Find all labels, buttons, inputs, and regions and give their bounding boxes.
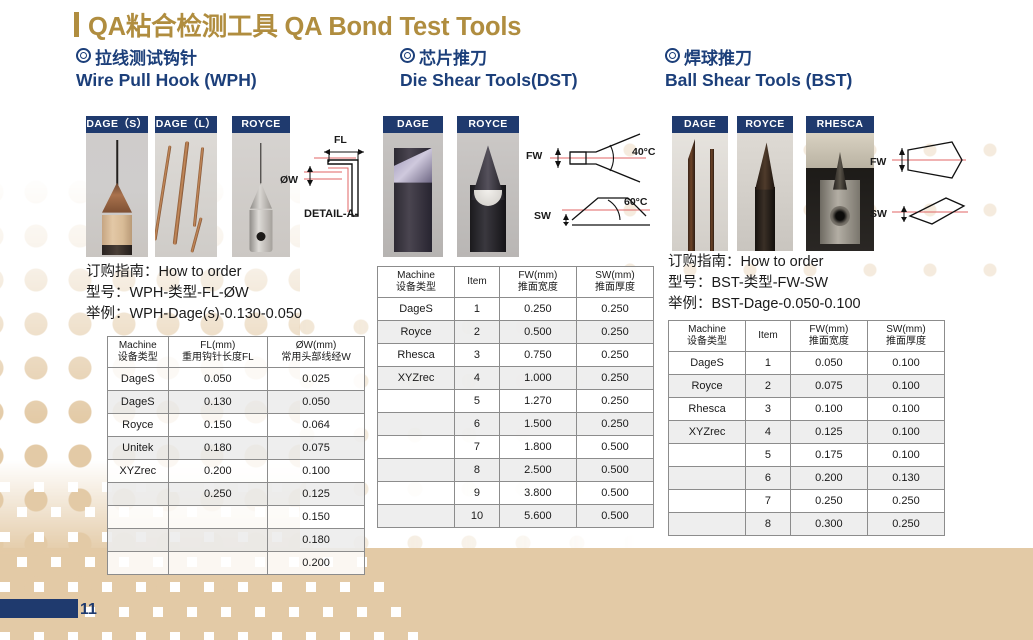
- table-cell: [168, 552, 268, 575]
- table-row: Rhesca30.7500.250: [378, 344, 654, 367]
- section-heading-bst-en: Ball Shear Tools (BST): [665, 69, 852, 92]
- table-cell: XYZrec: [378, 367, 455, 390]
- table-header-cell: Item: [455, 267, 500, 298]
- table-header-cn: 推面宽度: [504, 282, 572, 294]
- table-cell: 0.100: [867, 352, 944, 375]
- table-cell: [378, 436, 455, 459]
- table-row: 50.1750.100: [669, 444, 945, 467]
- table-cell: 0.100: [867, 444, 944, 467]
- table-cell: 0.500: [576, 482, 653, 505]
- table-cell: XYZrec: [669, 421, 746, 444]
- table-row: 60.2000.130: [669, 467, 945, 490]
- table-cell: 0.100: [867, 421, 944, 444]
- background-square: [102, 632, 112, 640]
- table-row: 0.200: [108, 552, 365, 575]
- table-header-cell: Item: [746, 321, 791, 352]
- diagram-label-60deg: 60°C: [624, 196, 647, 208]
- background-square: [51, 507, 61, 517]
- background-square: [0, 482, 10, 492]
- table-header-cell: SW(mm)推面厚度: [867, 321, 944, 352]
- table-row: DageS0.1300.050: [108, 391, 365, 414]
- title-accent-bar: [74, 12, 79, 37]
- table-header-row: Machine设备类型ItemFW(mm)推面宽度SW(mm)推面厚度: [378, 267, 654, 298]
- section-heading-dst: 芯片推刀 Die Shear Tools(DST): [400, 48, 578, 92]
- photo-image: [457, 133, 519, 257]
- table-header-cn: 推面厚度: [581, 282, 649, 294]
- diagram-label-ow: ØW: [280, 174, 298, 186]
- table-cell: 0.175: [790, 444, 867, 467]
- table-header-cell: FW(mm)推面宽度: [499, 267, 576, 298]
- table-header-cn: 设备类型: [112, 352, 164, 364]
- table-cell: 0.250: [867, 513, 944, 536]
- background-square: [255, 607, 265, 617]
- page-number-bar: [0, 599, 78, 618]
- table-cell: 0.025: [268, 368, 365, 391]
- table-row: XYZrec0.2000.100: [108, 460, 365, 483]
- bullet-ring-icon: [76, 48, 91, 63]
- background-square: [85, 557, 95, 567]
- table-cell: 0.180: [268, 529, 365, 552]
- table-header-row: Machine设备类型ItemFW(mm)推面宽度SW(mm)推面厚度: [669, 321, 945, 352]
- table-header-cell: Machine设备类型: [378, 267, 455, 298]
- spec-table-bst: Machine设备类型ItemFW(mm)推面宽度SW(mm)推面厚度DageS…: [668, 320, 945, 536]
- table-cell: 0.050: [168, 368, 268, 391]
- table-cell: [108, 529, 169, 552]
- table-cell: [378, 459, 455, 482]
- catalog-page: QA粘合检测工具 QA Bond Test Tools 拉线测试钩针 Wire …: [0, 0, 1033, 640]
- background-square: [136, 632, 146, 640]
- table-cell: 0.250: [576, 390, 653, 413]
- table-header-row: Machine设备类型FL(mm)重用钩针长度FLØW(mm)常用头部线经W: [108, 337, 365, 368]
- table-cell: 0.500: [576, 436, 653, 459]
- table-cell: 2: [746, 375, 791, 398]
- diagram-label-sw: SW: [870, 208, 887, 220]
- section-heading-dst-cn: 芯片推刀: [400, 48, 578, 69]
- background-square: [68, 482, 78, 492]
- table-row: 70.2500.250: [669, 490, 945, 513]
- table-row: Royce20.5000.250: [378, 321, 654, 344]
- table-header-cell: FW(mm)推面宽度: [790, 321, 867, 352]
- background-square: [34, 632, 44, 640]
- table-cell: 3: [455, 344, 500, 367]
- background-square: [68, 632, 78, 640]
- page-title: QA粘合检测工具 QA Bond Test Tools: [74, 6, 521, 43]
- table-header-cn: 重用钩针长度FL: [173, 352, 264, 364]
- section-heading-bst: 焊球推刀 Ball Shear Tools (BST): [665, 48, 852, 92]
- table-cell: 0.125: [790, 421, 867, 444]
- table-cell: 0.180: [168, 437, 268, 460]
- table-cell: 1.500: [499, 413, 576, 436]
- page-number: 11: [80, 601, 97, 619]
- product-photo-wph-dage-s: DAGE（S）: [86, 116, 148, 257]
- table-cell: 6: [455, 413, 500, 436]
- photo-image: [155, 133, 217, 257]
- section-heading-dst-en: Die Shear Tools(DST): [400, 69, 578, 92]
- table-cell: 0.125: [268, 483, 365, 506]
- howto-line-1: 订购指南：How to order: [86, 262, 302, 283]
- table-cell: 8: [746, 513, 791, 536]
- diagram-label-sw: SW: [534, 210, 551, 222]
- table-cell: 0.050: [268, 391, 365, 414]
- background-square: [136, 582, 146, 592]
- table-cell: 0.500: [576, 505, 653, 528]
- table-cell: Royce: [669, 375, 746, 398]
- diagram-bst: FW SW: [882, 136, 972, 236]
- product-photo-bst-rhesca: RHESCA: [806, 116, 874, 251]
- product-photo-bst-dage: DAGE: [672, 116, 728, 251]
- table-cell: 0.075: [790, 375, 867, 398]
- diagram-bst-svg: [882, 136, 972, 236]
- table-cell: 0.150: [168, 414, 268, 437]
- table-header-cn: 推面厚度: [872, 336, 940, 348]
- table-cell: 0.200: [268, 552, 365, 575]
- table-cell: 0.250: [867, 490, 944, 513]
- background-square: [17, 507, 27, 517]
- photo-image: [737, 133, 793, 251]
- table-cell: 0.100: [790, 398, 867, 421]
- table-header-cell: ØW(mm)常用头部线经W: [268, 337, 365, 368]
- photo-label: ROYCE: [737, 116, 793, 133]
- photo-image: [232, 133, 290, 257]
- table-header-cell: FL(mm)重用钩针长度FL: [168, 337, 268, 368]
- table-row: 93.8000.500: [378, 482, 654, 505]
- table-header-en: FL(mm): [173, 340, 264, 352]
- table-row: DageS10.2500.250: [378, 298, 654, 321]
- product-photo-dst-royce: ROYCE: [457, 116, 519, 257]
- photo-image: [806, 133, 874, 251]
- table-row: 51.2700.250: [378, 390, 654, 413]
- background-square: [306, 582, 316, 592]
- background-square: [0, 582, 10, 592]
- background-square: [357, 607, 367, 617]
- background-square: [68, 532, 78, 542]
- table-header-en: FW(mm): [504, 270, 572, 282]
- background-square: [323, 607, 333, 617]
- table-header-cn: 设备类型: [673, 336, 741, 348]
- table-header-cell: Machine设备类型: [669, 321, 746, 352]
- table-cell: 1.800: [499, 436, 576, 459]
- background-square: [119, 607, 129, 617]
- table-row: DageS10.0500.100: [669, 352, 945, 375]
- table-cell: 1.000: [499, 367, 576, 390]
- diagram-label-fl: FL: [334, 134, 347, 146]
- table-cell: 4: [746, 421, 791, 444]
- table-cell: 0.064: [268, 414, 365, 437]
- product-photo-wph-dage-l: DAGE（L）: [155, 116, 217, 257]
- bullet-ring-icon: [665, 48, 680, 63]
- table-header-en: Item: [750, 330, 786, 342]
- howto-line-3: 举例：WPH-Dage(s)-0.130-0.050: [86, 304, 302, 325]
- table-header-en: Machine: [673, 324, 741, 336]
- background-square: [170, 632, 180, 640]
- table-row: Rhesca30.1000.100: [669, 398, 945, 421]
- table-header-cn: 常用头部线经W: [272, 352, 360, 364]
- table-cell: [669, 467, 746, 490]
- table-row: 61.5000.250: [378, 413, 654, 436]
- diagram-label-fw: FW: [526, 150, 542, 162]
- table-cell: 0.250: [576, 344, 653, 367]
- background-square: [306, 632, 316, 640]
- howto-line-1: 订购指南：How to order: [668, 252, 861, 273]
- table-cell: DageS: [108, 391, 169, 414]
- table-header-en: FW(mm): [795, 324, 863, 336]
- photo-label: DAGE: [672, 116, 728, 133]
- table-cell: [168, 529, 268, 552]
- table-header-en: Machine: [382, 270, 450, 282]
- table-cell: DageS: [108, 368, 169, 391]
- diagram-label-detail-a: DETAIL-A-: [304, 208, 358, 220]
- table-row: XYZrec40.1250.100: [669, 421, 945, 444]
- background-square: [0, 532, 10, 542]
- table-cell: 0.250: [168, 483, 268, 506]
- table-cell: 0.250: [576, 321, 653, 344]
- title-text: QA粘合检测工具 QA Bond Test Tools: [88, 6, 521, 43]
- table-cell: 7: [746, 490, 791, 513]
- table-cell: 0.500: [576, 459, 653, 482]
- table-row: Royce0.1500.064: [108, 414, 365, 437]
- table-row: 105.6000.500: [378, 505, 654, 528]
- table-cell: Royce: [378, 321, 455, 344]
- background-square: [34, 532, 44, 542]
- howto-line-2: 型号：BST-类型-FW-SW: [668, 273, 861, 294]
- table-cell: 8: [455, 459, 500, 482]
- section-heading-bst-cn: 焊球推刀: [665, 48, 852, 69]
- table-cell: 3.800: [499, 482, 576, 505]
- table-header-cell: SW(mm)推面厚度: [576, 267, 653, 298]
- table-cell: 0.250: [576, 413, 653, 436]
- table-cell: 5: [455, 390, 500, 413]
- table-cell: 0.200: [790, 467, 867, 490]
- background-square: [17, 557, 27, 567]
- background-square: [272, 632, 282, 640]
- photo-label: DAGE: [383, 116, 443, 133]
- table-cell: [378, 505, 455, 528]
- table-cell: 0.150: [268, 506, 365, 529]
- background-square: [34, 482, 44, 492]
- table-row: 82.5000.500: [378, 459, 654, 482]
- table-header-en: Item: [459, 276, 495, 288]
- table-cell: 0.500: [499, 321, 576, 344]
- background-square: [51, 557, 61, 567]
- background-square: [170, 582, 180, 592]
- table-cell: [108, 552, 169, 575]
- table-cell: 0.250: [576, 367, 653, 390]
- table-row: 0.2500.125: [108, 483, 365, 506]
- table-row: Unitek0.1800.075: [108, 437, 365, 460]
- background-square: [340, 582, 350, 592]
- background-square: [102, 582, 112, 592]
- table-row: 80.3000.250: [669, 513, 945, 536]
- table-cell: Royce: [108, 414, 169, 437]
- table-cell: 1: [746, 352, 791, 375]
- diagram-wph-detail: FL ØW DETAIL-A-: [296, 130, 376, 230]
- table-cell: 1: [455, 298, 500, 321]
- diagram-dst: FW 40°C SW 60°C: [528, 128, 660, 238]
- table-header-cell: Machine设备类型: [108, 337, 169, 368]
- table-cell: Rhesca: [378, 344, 455, 367]
- table-header-en: Machine: [112, 340, 164, 352]
- background-square: [0, 632, 10, 640]
- table-cell: [168, 506, 268, 529]
- table-cell: [378, 413, 455, 436]
- table-cell: 6: [746, 467, 791, 490]
- table-cell: [669, 444, 746, 467]
- background-square: [238, 582, 248, 592]
- background-square: [238, 632, 248, 640]
- photo-label: RHESCA: [806, 116, 874, 133]
- table-cell: 5.600: [499, 505, 576, 528]
- background-square: [68, 582, 78, 592]
- background-square: [153, 607, 163, 617]
- section-heading-wph: 拉线测试钩针 Wire Pull Hook (WPH): [76, 48, 257, 92]
- table-cell: Rhesca: [669, 398, 746, 421]
- background-square: [204, 632, 214, 640]
- background-square: [34, 582, 44, 592]
- background-square: [272, 582, 282, 592]
- table-cell: [108, 483, 169, 506]
- howto-line-2: 型号：WPH-类型-FL-ØW: [86, 283, 302, 304]
- background-square: [187, 607, 197, 617]
- table-row: DageS0.0500.025: [108, 368, 365, 391]
- background-square: [85, 507, 95, 517]
- table-cell: 0.300: [790, 513, 867, 536]
- table-cell: 7: [455, 436, 500, 459]
- table-cell: 0.250: [576, 298, 653, 321]
- spec-table-dst: Machine设备类型ItemFW(mm)推面宽度SW(mm)推面厚度DageS…: [377, 266, 654, 528]
- bullet-ring-icon: [400, 48, 415, 63]
- table-cell: [669, 490, 746, 513]
- background-square: [408, 632, 418, 640]
- table-cell: 2: [455, 321, 500, 344]
- table-row: XYZrec41.0000.250: [378, 367, 654, 390]
- table-header-cn: 设备类型: [382, 282, 450, 294]
- table-cell: [108, 506, 169, 529]
- table-cell: 9: [455, 482, 500, 505]
- diagram-label-40deg: 40°C: [632, 146, 655, 158]
- table-cell: 0.200: [168, 460, 268, 483]
- background-square: [204, 582, 214, 592]
- table-cell: 4: [455, 367, 500, 390]
- photo-label: ROYCE: [232, 116, 290, 133]
- table-cell: 0.050: [790, 352, 867, 375]
- product-photo-bst-royce: ROYCE: [737, 116, 793, 251]
- table-cell: 0.250: [790, 490, 867, 513]
- table-cell: [378, 390, 455, 413]
- table-cell: 0.750: [499, 344, 576, 367]
- background-square: [374, 582, 384, 592]
- table-cell: 0.100: [268, 460, 365, 483]
- table-cell: 5: [746, 444, 791, 467]
- section-heading-wph-en: Wire Pull Hook (WPH): [76, 69, 257, 92]
- table-header-en: SW(mm): [581, 270, 649, 282]
- photo-image: [672, 133, 728, 251]
- table-cell: XYZrec: [108, 460, 169, 483]
- table-cell: Unitek: [108, 437, 169, 460]
- background-square: [374, 632, 384, 640]
- table-cell: 2.500: [499, 459, 576, 482]
- background-square: [289, 607, 299, 617]
- product-photo-wph-royce: ROYCE: [232, 116, 290, 257]
- table-row: 71.8000.500: [378, 436, 654, 459]
- table-cell: 0.075: [268, 437, 365, 460]
- table-cell: [669, 513, 746, 536]
- product-photo-dst-dage: DAGE: [383, 116, 443, 257]
- table-cell: 0.130: [867, 467, 944, 490]
- photo-label: DAGE（L）: [155, 116, 217, 133]
- background-square: [221, 607, 231, 617]
- spec-table-wph: Machine设备类型FL(mm)重用钩针长度FLØW(mm)常用头部线经WDa…: [107, 336, 365, 575]
- table-header-en: SW(mm): [872, 324, 940, 336]
- section-heading-wph-cn: 拉线测试钩针: [76, 48, 257, 69]
- table-cell: DageS: [669, 352, 746, 375]
- table-row: 0.180: [108, 529, 365, 552]
- table-cell: [378, 482, 455, 505]
- table-cell: DageS: [378, 298, 455, 321]
- background-square: [391, 607, 401, 617]
- table-header-cn: 推面宽度: [795, 336, 863, 348]
- table-cell: 1.270: [499, 390, 576, 413]
- table-row: Royce20.0750.100: [669, 375, 945, 398]
- background-square: [340, 632, 350, 640]
- table-cell: 3: [746, 398, 791, 421]
- table-row: 0.150: [108, 506, 365, 529]
- photo-label: DAGE（S）: [86, 116, 148, 133]
- howto-order-wph: 订购指南：How to order 型号：WPH-类型-FL-ØW 举例：WPH…: [86, 262, 302, 325]
- howto-order-bst: 订购指南：How to order 型号：BST-类型-FW-SW 举例：BST…: [668, 252, 861, 315]
- table-cell: 10: [455, 505, 500, 528]
- photo-image: [86, 133, 148, 257]
- diagram-label-fw: FW: [870, 156, 886, 168]
- table-cell: 0.100: [867, 375, 944, 398]
- photo-image: [383, 133, 443, 257]
- table-cell: 0.130: [168, 391, 268, 414]
- table-cell: 0.250: [499, 298, 576, 321]
- photo-label: ROYCE: [457, 116, 519, 133]
- howto-line-3: 举例：BST-Dage-0.050-0.100: [668, 294, 861, 315]
- table-header-en: ØW(mm): [272, 340, 360, 352]
- table-cell: 0.100: [867, 398, 944, 421]
